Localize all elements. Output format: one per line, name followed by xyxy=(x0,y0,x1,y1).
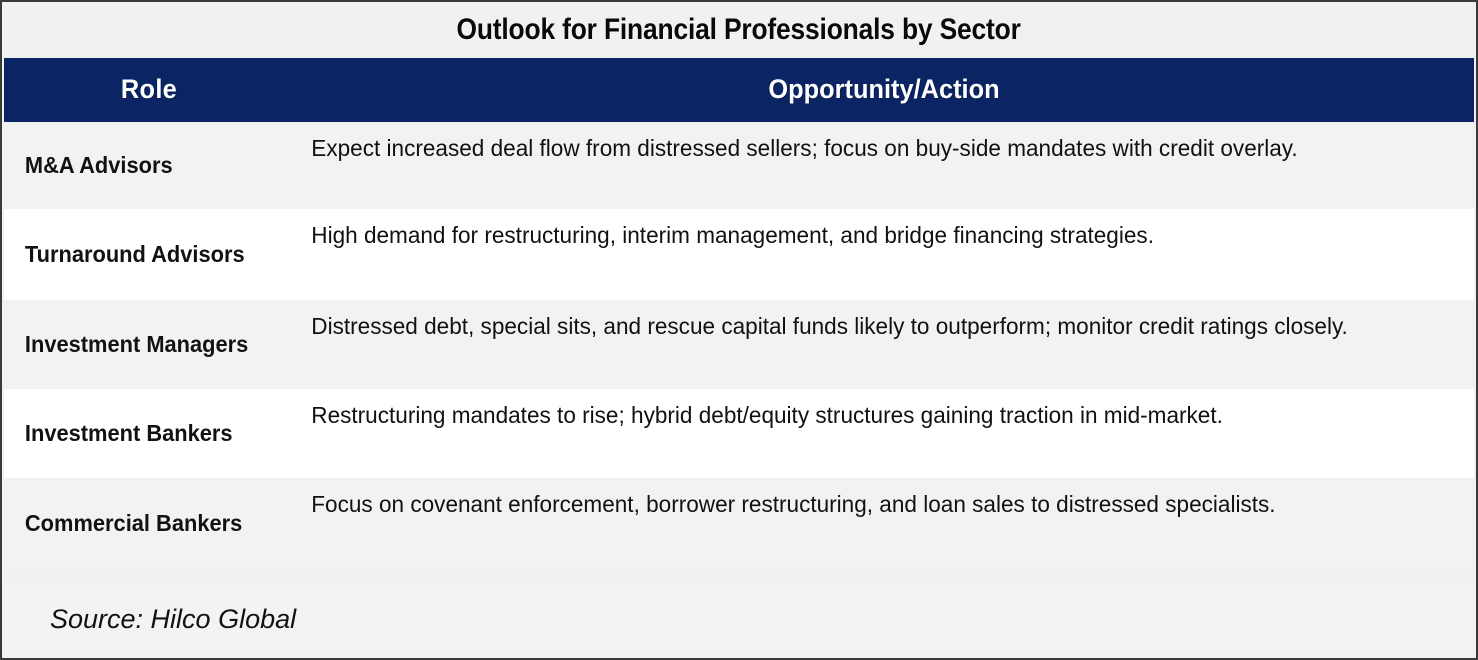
outlook-table: Role Opportunity/Action M&A Advisors Exp… xyxy=(4,58,1474,568)
table-header-row: Role Opportunity/Action xyxy=(4,58,1474,122)
cell-role: Turnaround Advisors xyxy=(4,209,280,300)
cell-opportunity: High demand for restructuring, interim m… xyxy=(294,209,1427,300)
outlook-table-wrapper: Role Opportunity/Action M&A Advisors Exp… xyxy=(4,58,1474,568)
cell-role: Investment Managers xyxy=(4,300,280,389)
source-area: Source: Hilco Global xyxy=(4,584,1474,658)
cell-role: M&A Advisors xyxy=(4,122,280,209)
table-row: M&A Advisors Expect increased deal flow … xyxy=(4,122,1474,209)
source-caption: Source: Hilco Global xyxy=(50,604,296,635)
cell-opportunity: Expect increased deal flow from distress… xyxy=(294,122,1427,209)
cell-opportunity: Distressed debt, special sits, and rescu… xyxy=(294,300,1427,389)
table-body: M&A Advisors Expect increased deal flow … xyxy=(4,122,1474,568)
cell-role: Commercial Bankers xyxy=(4,478,280,568)
table-row: Investment Bankers Restructuring mandate… xyxy=(4,389,1474,478)
cell-opportunity: Focus on covenant enforcement, borrower … xyxy=(294,478,1427,568)
cell-opportunity: Restructuring mandates to rise; hybrid d… xyxy=(294,389,1427,478)
figure-title-bar: Outlook for Financial Professionals by S… xyxy=(2,2,1476,58)
table-figure: Outlook for Financial Professionals by S… xyxy=(0,0,1478,660)
table-header: Role Opportunity/Action xyxy=(4,58,1474,122)
table-row: Turnaround Advisors High demand for rest… xyxy=(4,209,1474,300)
cell-role: Investment Bankers xyxy=(4,389,280,478)
table-row: Commercial Bankers Focus on covenant enf… xyxy=(4,478,1474,568)
column-header-role: Role xyxy=(13,58,286,122)
column-header-opportunity: Opportunity/Action xyxy=(329,58,1438,122)
page-title: Outlook for Financial Professionals by S… xyxy=(457,13,1021,47)
table-row: Investment Managers Distressed debt, spe… xyxy=(4,300,1474,389)
